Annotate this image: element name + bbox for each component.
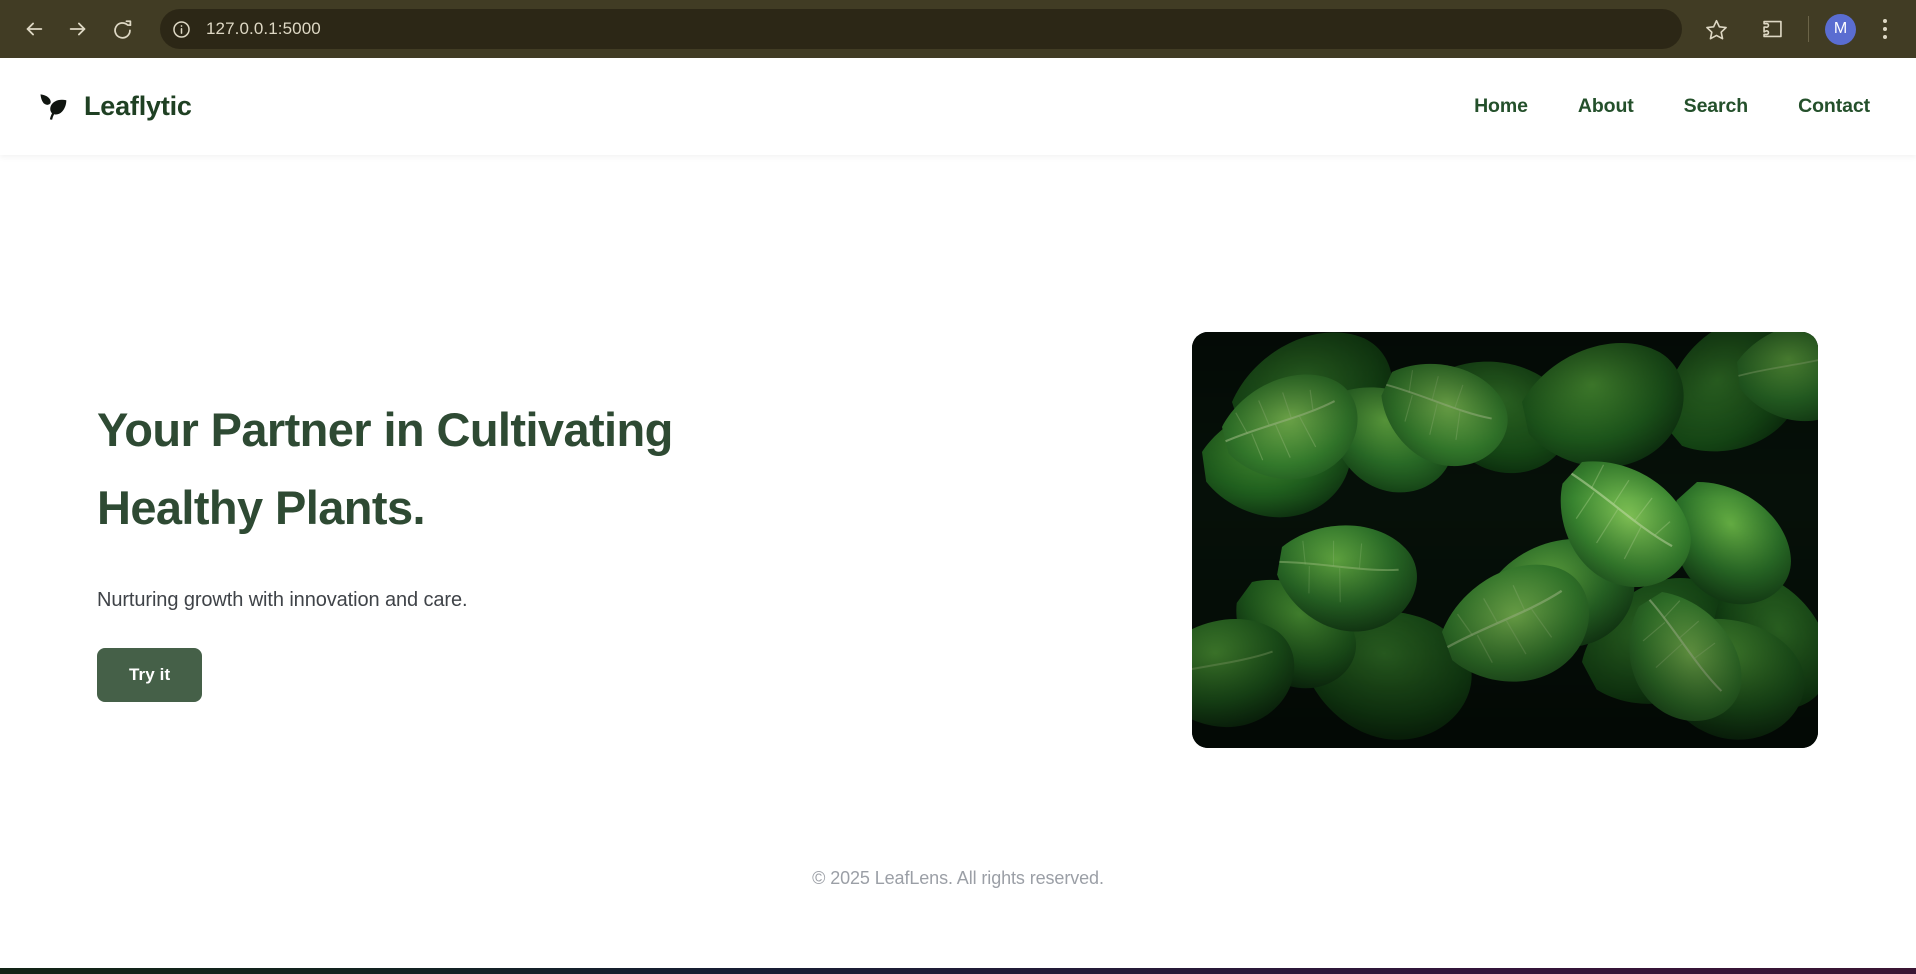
forward-button[interactable] [58,9,98,49]
nav-link-about[interactable]: About [1578,95,1634,118]
leaf-sprout-icon [36,90,70,124]
bookmark-button[interactable] [1696,9,1736,49]
reload-icon [112,19,133,40]
hero-subtitle: Nurturing growth with innovation and car… [97,589,977,612]
reload-button[interactable] [102,9,142,49]
footer-copyright: © 2025 LeafLens. All rights reserved. [812,868,1104,888]
nav-link-contact[interactable]: Contact [1798,95,1870,118]
profile-avatar[interactable]: M [1825,14,1856,45]
site-header: Leaflytic Home About Search Contact [0,58,1916,155]
main-navigation: Home About Search Contact [1474,95,1870,118]
star-icon [1705,18,1728,41]
site-info-button[interactable] [166,14,196,44]
try-it-button[interactable]: Try it [97,648,202,702]
info-circle-icon [172,20,191,39]
browser-toolbar: 127.0.0.1:5000 M [0,0,1916,58]
toolbar-divider [1808,16,1809,42]
brand-name: Leaflytic [84,91,192,122]
menu-dot [1883,35,1887,39]
hero-image [1192,332,1818,748]
brand-logo[interactable]: Leaflytic [36,90,192,124]
menu-dot [1883,19,1887,23]
back-arrow-icon [23,18,45,40]
extensions-button[interactable] [1752,9,1792,49]
bottom-accent-strip [0,968,1916,974]
hero-copy: Your Partner in Cultivating Healthy Plan… [97,155,977,702]
menu-dot [1883,27,1887,31]
profile-initial: M [1834,20,1847,38]
hero-title: Your Partner in Cultivating Healthy Plan… [97,391,817,547]
page-viewport: Leaflytic Home About Search Contact Your… [0,58,1916,974]
address-bar-url[interactable]: 127.0.0.1:5000 [206,19,321,39]
hero-section: Your Partner in Cultivating Healthy Plan… [0,155,1916,815]
back-button[interactable] [14,9,54,49]
nav-link-search[interactable]: Search [1684,95,1748,118]
address-bar[interactable]: 127.0.0.1:5000 [160,9,1682,49]
leaves-photo-illustration [1192,332,1818,748]
puzzle-piece-icon [1761,18,1784,41]
site-footer: © 2025 LeafLens. All rights reserved. [0,868,1916,889]
browser-menu-button[interactable] [1868,9,1902,49]
nav-link-home[interactable]: Home [1474,95,1528,118]
forward-arrow-icon [67,18,89,40]
